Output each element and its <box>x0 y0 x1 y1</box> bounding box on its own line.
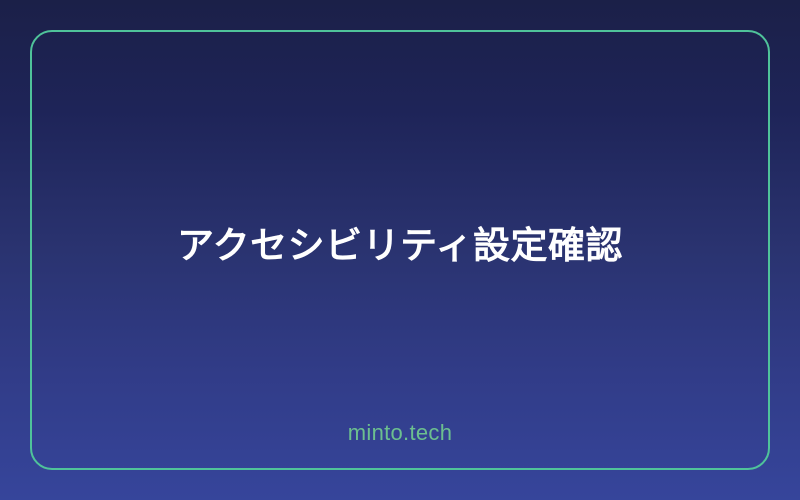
card-border-frame: アクセシビリティ設定確認 minto.tech <box>30 30 770 470</box>
footer-brand: minto.tech <box>32 422 768 444</box>
page-title: アクセシビリティ設定確認 <box>177 223 623 269</box>
card-content: アクセシビリティ設定確認 <box>32 32 768 468</box>
slide-canvas: アクセシビリティ設定確認 minto.tech <box>0 0 800 500</box>
